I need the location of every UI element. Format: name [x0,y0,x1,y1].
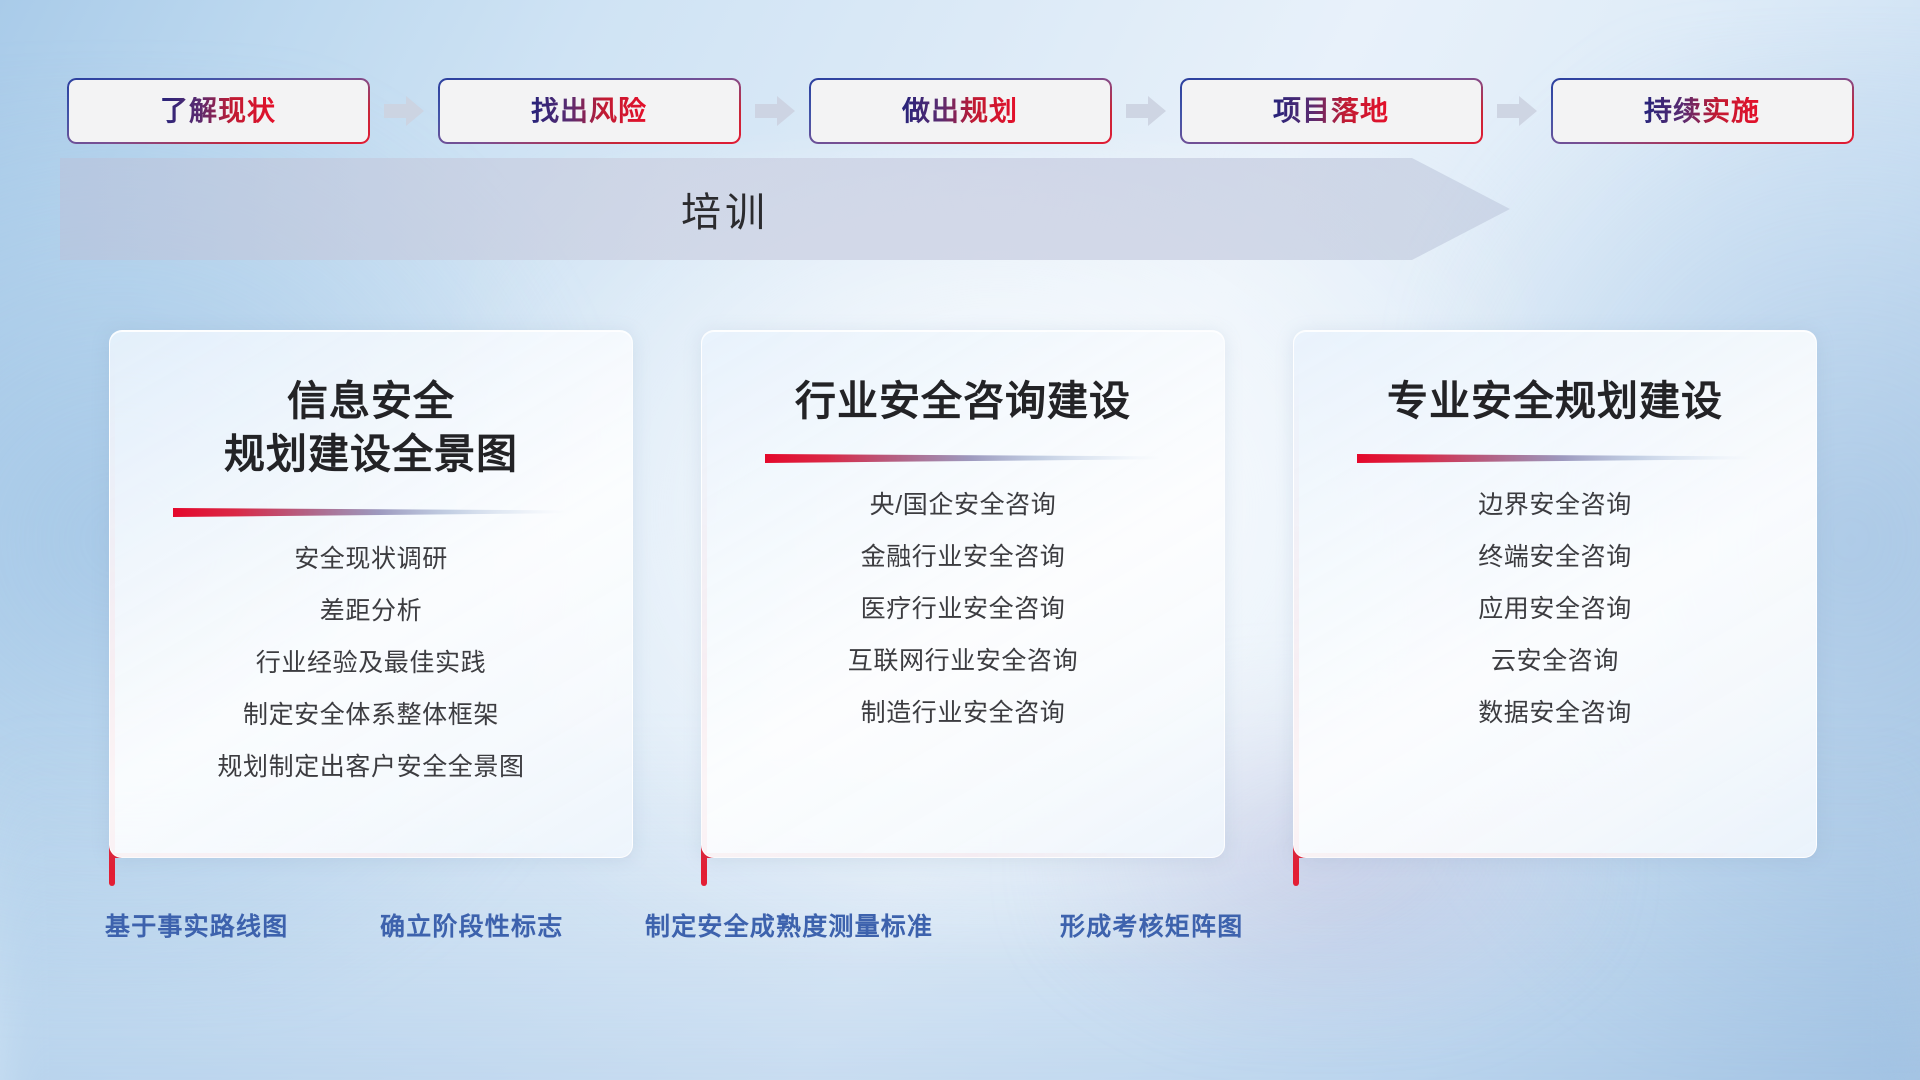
arrow-right-icon [1126,94,1166,128]
step-box-5[interactable]: 持续实施 [1551,78,1854,144]
list-item[interactable]: 云安全咨询 [1491,649,1619,674]
list-item[interactable]: 行业经验及最佳实践 [256,651,486,676]
arrow-right-icon [755,94,795,128]
card-title: 专业安全规划建设 [1387,375,1723,428]
list-item[interactable]: 差距分析 [320,599,422,624]
caption-1: 基于事实路线图 [105,905,288,949]
card-item-list: 央/国企安全咨询金融行业安全咨询医疗行业安全咨询互联网行业安全咨询制造行业安全咨… [728,493,1198,726]
list-item[interactable]: 医疗行业安全咨询 [861,597,1066,622]
card-item-list: 安全现状调研差距分析行业经验及最佳实践制定安全体系整体框架规划制定出客户安全全景… [136,547,606,780]
training-banner: 培训 [60,158,1510,260]
service-card-row: 信息安全 规划建设全景图安全现状调研差距分析行业经验及最佳实践制定安全体系整体框… [0,330,1920,875]
list-item[interactable]: 制造行业安全咨询 [861,701,1066,726]
list-item[interactable]: 边界安全咨询 [1478,493,1632,518]
list-item[interactable]: 安全现状调研 [294,547,448,572]
step-label: 持续实施 [1644,97,1760,125]
step-box-2[interactable]: 找出风险 [438,78,741,144]
list-item[interactable]: 制定安全体系整体框架 [243,703,499,728]
card-title: 信息安全 规划建设全景图 [224,375,518,482]
list-item[interactable]: 应用安全咨询 [1478,597,1632,622]
service-card-3[interactable]: 专业安全规划建设边界安全咨询终端安全咨询应用安全咨询云安全咨询数据安全咨询 [1287,330,1817,858]
caption-4: 形成考核矩阵图 [1060,905,1243,949]
card-body: 信息安全 规划建设全景图安全现状调研差距分析行业经验及最佳实践制定安全体系整体框… [109,330,633,858]
step-label: 做出规划 [902,97,1018,125]
list-item[interactable]: 终端安全咨询 [1478,545,1632,570]
step-label: 找出风险 [531,97,647,125]
gradient-divider [765,452,1161,463]
list-item[interactable]: 数据安全咨询 [1478,701,1632,726]
process-step-flow: 了解现状找出风险做出规划项目落地持续实施 [0,78,1920,144]
service-card-1[interactable]: 信息安全 规划建设全景图安全现状调研差距分析行业经验及最佳实践制定安全体系整体框… [103,330,633,858]
list-item[interactable]: 央/国企安全咨询 [870,493,1057,518]
list-item[interactable]: 金融行业安全咨询 [861,545,1066,570]
step-label: 项目落地 [1273,97,1389,125]
step-box-4[interactable]: 项目落地 [1180,78,1483,144]
step-box-3[interactable]: 做出规划 [809,78,1112,144]
card-title: 行业安全咨询建设 [795,375,1131,428]
step-box-1[interactable]: 了解现状 [67,78,370,144]
arrow-right-icon [1497,94,1537,128]
card-body: 行业安全咨询建设央/国企安全咨询金融行业安全咨询医疗行业安全咨询互联网行业安全咨… [701,330,1225,858]
list-item[interactable]: 规划制定出客户安全全景图 [217,755,524,780]
card-body: 专业安全规划建设边界安全咨询终端安全咨询应用安全咨询云安全咨询数据安全咨询 [1293,330,1817,858]
service-card-2[interactable]: 行业安全咨询建设央/国企安全咨询金融行业安全咨询医疗行业安全咨询互联网行业安全咨… [695,330,1225,858]
caption-3: 制定安全成熟度测量标准 [645,905,933,949]
card-item-list: 边界安全咨询终端安全咨询应用安全咨询云安全咨询数据安全咨询 [1320,493,1790,726]
list-item[interactable]: 互联网行业安全咨询 [848,649,1078,674]
banner-title: 培训 [60,158,1510,260]
step-label: 了解现状 [160,97,276,125]
gradient-divider [173,506,569,517]
gradient-divider [1357,452,1753,463]
arrow-right-icon [384,94,424,128]
caption-row: 基于事实路线图确立阶段性标志制定安全成熟度测量标准形成考核矩阵图 [0,905,1920,949]
caption-2: 确立阶段性标志 [380,905,563,949]
